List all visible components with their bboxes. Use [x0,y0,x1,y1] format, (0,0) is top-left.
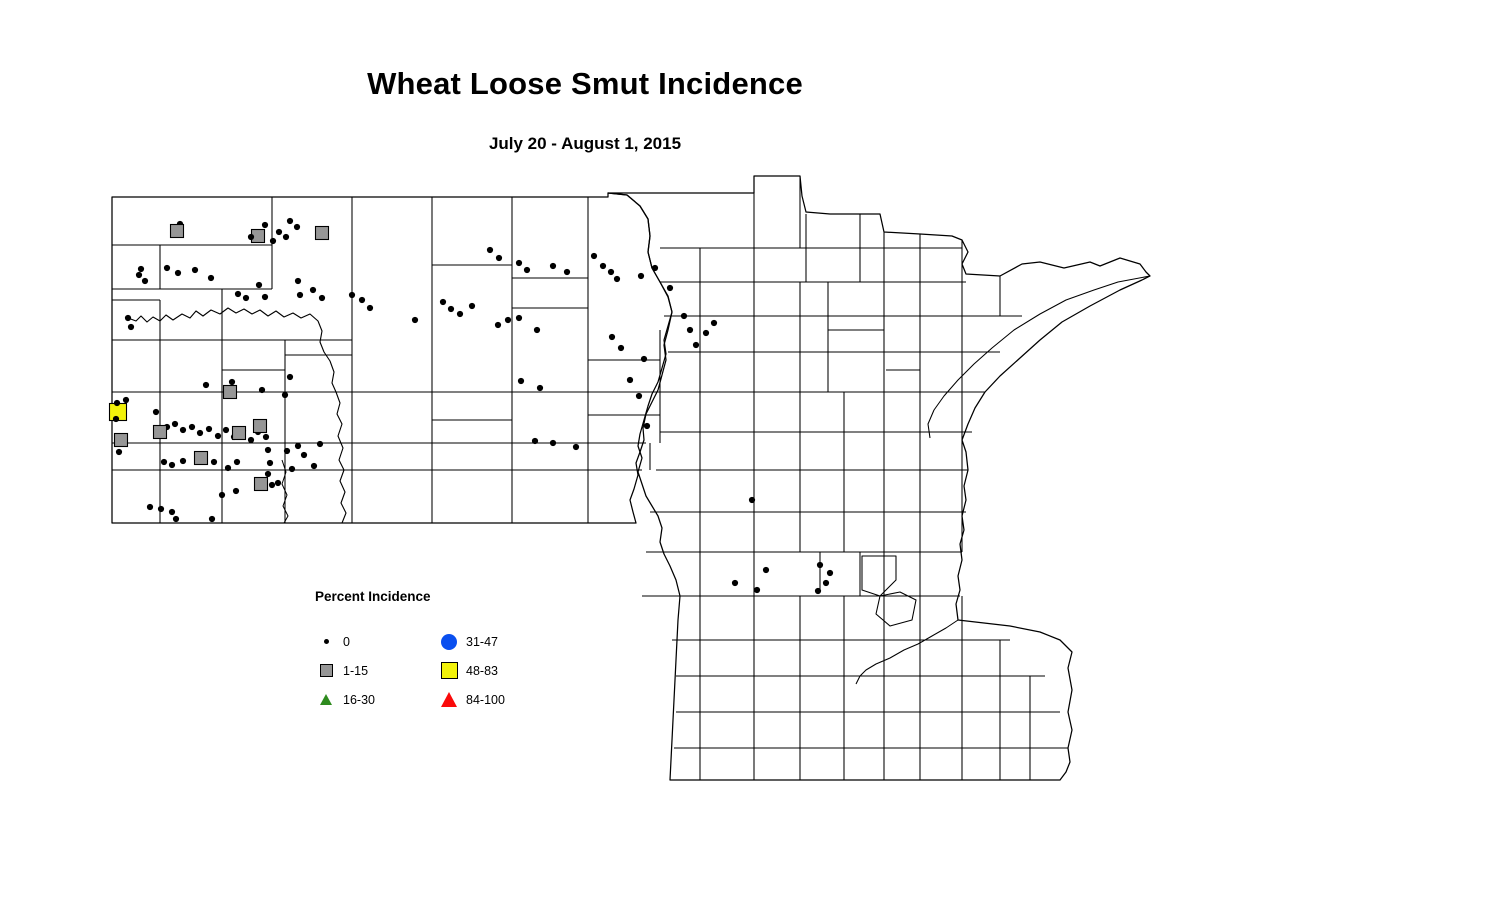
map-point-0 [367,305,373,311]
map-canvas [0,0,1503,900]
map-point-0 [703,330,709,336]
map-point-0 [317,441,323,447]
legend-red-triangle-icon [436,692,462,707]
map-point-0 [532,438,538,444]
map-point-0 [169,509,175,515]
legend-dot-icon [313,639,339,644]
map-point-0 [256,282,262,288]
map-point-0 [114,400,120,406]
map-point-1-15 [154,426,167,439]
map-point-0 [349,292,355,298]
map-point-0 [161,459,167,465]
map-point-1-15 [171,225,184,238]
map-point-0 [618,345,624,351]
map-point-0 [297,292,303,298]
map-point-0 [564,269,570,275]
map-point-0 [153,409,159,415]
map-point-0 [591,253,597,259]
map-point-0 [229,379,235,385]
map-point-0 [537,385,543,391]
legend-item-2[interactable]: 16-30 [313,685,375,714]
map-point-0 [284,448,290,454]
map-point-1-15 [195,452,208,465]
legend-label: 16-30 [343,693,375,707]
map-point-0 [516,260,522,266]
map-point-0 [189,424,195,430]
map-point-0 [534,327,540,333]
map-point-0 [243,295,249,301]
map-point-0 [233,488,239,494]
map-point-1-15 [115,434,128,447]
map-point-0 [283,234,289,240]
map-point-0 [440,299,446,305]
map-point-0 [215,433,221,439]
map-point-0 [763,567,769,573]
map-point-0 [641,356,647,362]
map-point-0 [208,275,214,281]
map-point-0 [263,434,269,440]
lake-superior-shore [928,276,1150,438]
legend-item-5[interactable]: 84-100 [436,685,505,714]
legend-column-left: 0 1-15 16-30 [313,627,375,714]
map-point-0 [301,452,307,458]
minnesota-outline [608,176,1150,780]
map-point-0 [827,570,833,576]
map-point-0 [128,324,134,330]
map-point-0 [175,270,181,276]
map-point-0 [754,587,760,593]
legend-gray-square-icon [313,664,339,677]
legend-label: 48-83 [466,664,498,678]
map-point-0 [627,377,633,383]
map-point-0 [203,382,209,388]
map-point-0 [180,458,186,464]
nd-county-lines [112,197,668,523]
map-point-0 [749,497,755,503]
data-points-layer [110,218,834,594]
map-point-0 [276,229,282,235]
map-point-0 [600,263,606,269]
map-point-0 [448,306,454,312]
map-point-0 [550,263,556,269]
map-point-0 [505,317,511,323]
map-point-0 [136,272,142,278]
map-point-0 [262,294,268,300]
map-point-0 [265,447,271,453]
map-point-0 [815,588,821,594]
map-legend: Percent Incidence 0 1-15 16-30 31-47 48-… [313,589,573,724]
legend-item-3[interactable]: 31-47 [436,627,505,656]
map-point-0 [681,313,687,319]
map-point-1-15 [224,386,237,399]
map-figure [0,0,1503,900]
map-point-0 [282,392,288,398]
map-point-0 [172,421,178,427]
legend-green-triangle-icon [313,694,339,705]
map-point-0 [211,459,217,465]
map-point-0 [197,430,203,436]
map-point-0 [147,504,153,510]
map-point-0 [275,480,281,486]
map-point-0 [644,423,650,429]
map-point-0 [269,482,275,488]
map-point-0 [573,444,579,450]
legend-blue-circle-icon [436,634,462,650]
legend-yellow-square-icon [436,662,462,679]
map-point-0 [209,516,215,522]
map-point-0 [219,492,225,498]
map-point-0 [469,303,475,309]
map-point-0 [496,255,502,261]
map-point-0 [164,265,170,271]
map-point-0 [173,516,179,522]
legend-item-0[interactable]: 0 [313,627,375,656]
map-point-0 [693,342,699,348]
map-point-0 [711,320,717,326]
mn-metro-lines [862,556,916,626]
map-point-0 [287,218,293,224]
map-point-0 [609,334,615,340]
map-point-0 [138,266,144,272]
map-point-0 [180,427,186,433]
map-point-0 [412,317,418,323]
map-point-0 [311,463,317,469]
map-point-0 [457,311,463,317]
map-point-0 [206,426,212,432]
map-point-0 [636,393,642,399]
missouri-river-south [336,392,346,523]
map-point-0 [638,273,644,279]
legend-label: 1-15 [343,664,368,678]
map-point-0 [823,580,829,586]
map-point-0 [319,295,325,301]
map-point-0 [116,449,122,455]
legend-item-4[interactable]: 48-83 [436,656,505,685]
map-point-1-15 [254,420,267,433]
map-point-0 [169,462,175,468]
map-point-1-15 [255,478,268,491]
map-point-0 [495,322,501,328]
map-point-0 [113,416,119,422]
legend-label: 84-100 [466,693,505,707]
map-point-0 [732,580,738,586]
map-point-0 [518,378,524,384]
map-point-0 [667,285,673,291]
map-point-0 [158,506,164,512]
map-point-0 [652,265,658,271]
map-point-0 [295,278,301,284]
map-point-0 [310,287,316,293]
map-point-0 [294,224,300,230]
map-point-0 [687,327,693,333]
map-point-0 [248,437,254,443]
legend-item-1[interactable]: 1-15 [313,656,375,685]
legend-label: 31-47 [466,635,498,649]
map-point-0 [262,222,268,228]
map-point-0 [123,397,129,403]
map-point-0 [608,269,614,275]
map-point-0 [524,267,530,273]
map-point-0 [267,460,273,466]
map-point-0 [550,440,556,446]
mississippi-river-border [856,620,958,684]
map-point-0 [259,387,265,393]
legend-column-right: 31-47 48-83 84-100 [436,627,505,714]
map-point-1-15 [316,227,329,240]
map-point-0 [817,562,823,568]
map-point-0 [234,459,240,465]
mn-county-lines [642,176,1068,780]
map-point-0 [614,276,620,282]
map-point-0 [265,471,271,477]
map-point-0 [192,267,198,273]
legend-label: 0 [343,635,350,649]
map-point-0 [287,374,293,380]
map-point-0 [295,443,301,449]
map-point-0 [248,234,254,240]
map-point-0 [289,466,295,472]
legend-title: Percent Incidence [315,589,573,604]
map-point-0 [225,465,231,471]
map-point-0 [223,427,229,433]
map-point-0 [270,238,276,244]
map-point-0 [235,291,241,297]
map-point-0 [125,315,131,321]
map-point-1-15 [233,427,246,440]
map-point-0 [142,278,148,284]
map-point-0 [516,315,522,321]
map-point-0 [359,297,365,303]
map-point-0 [487,247,493,253]
